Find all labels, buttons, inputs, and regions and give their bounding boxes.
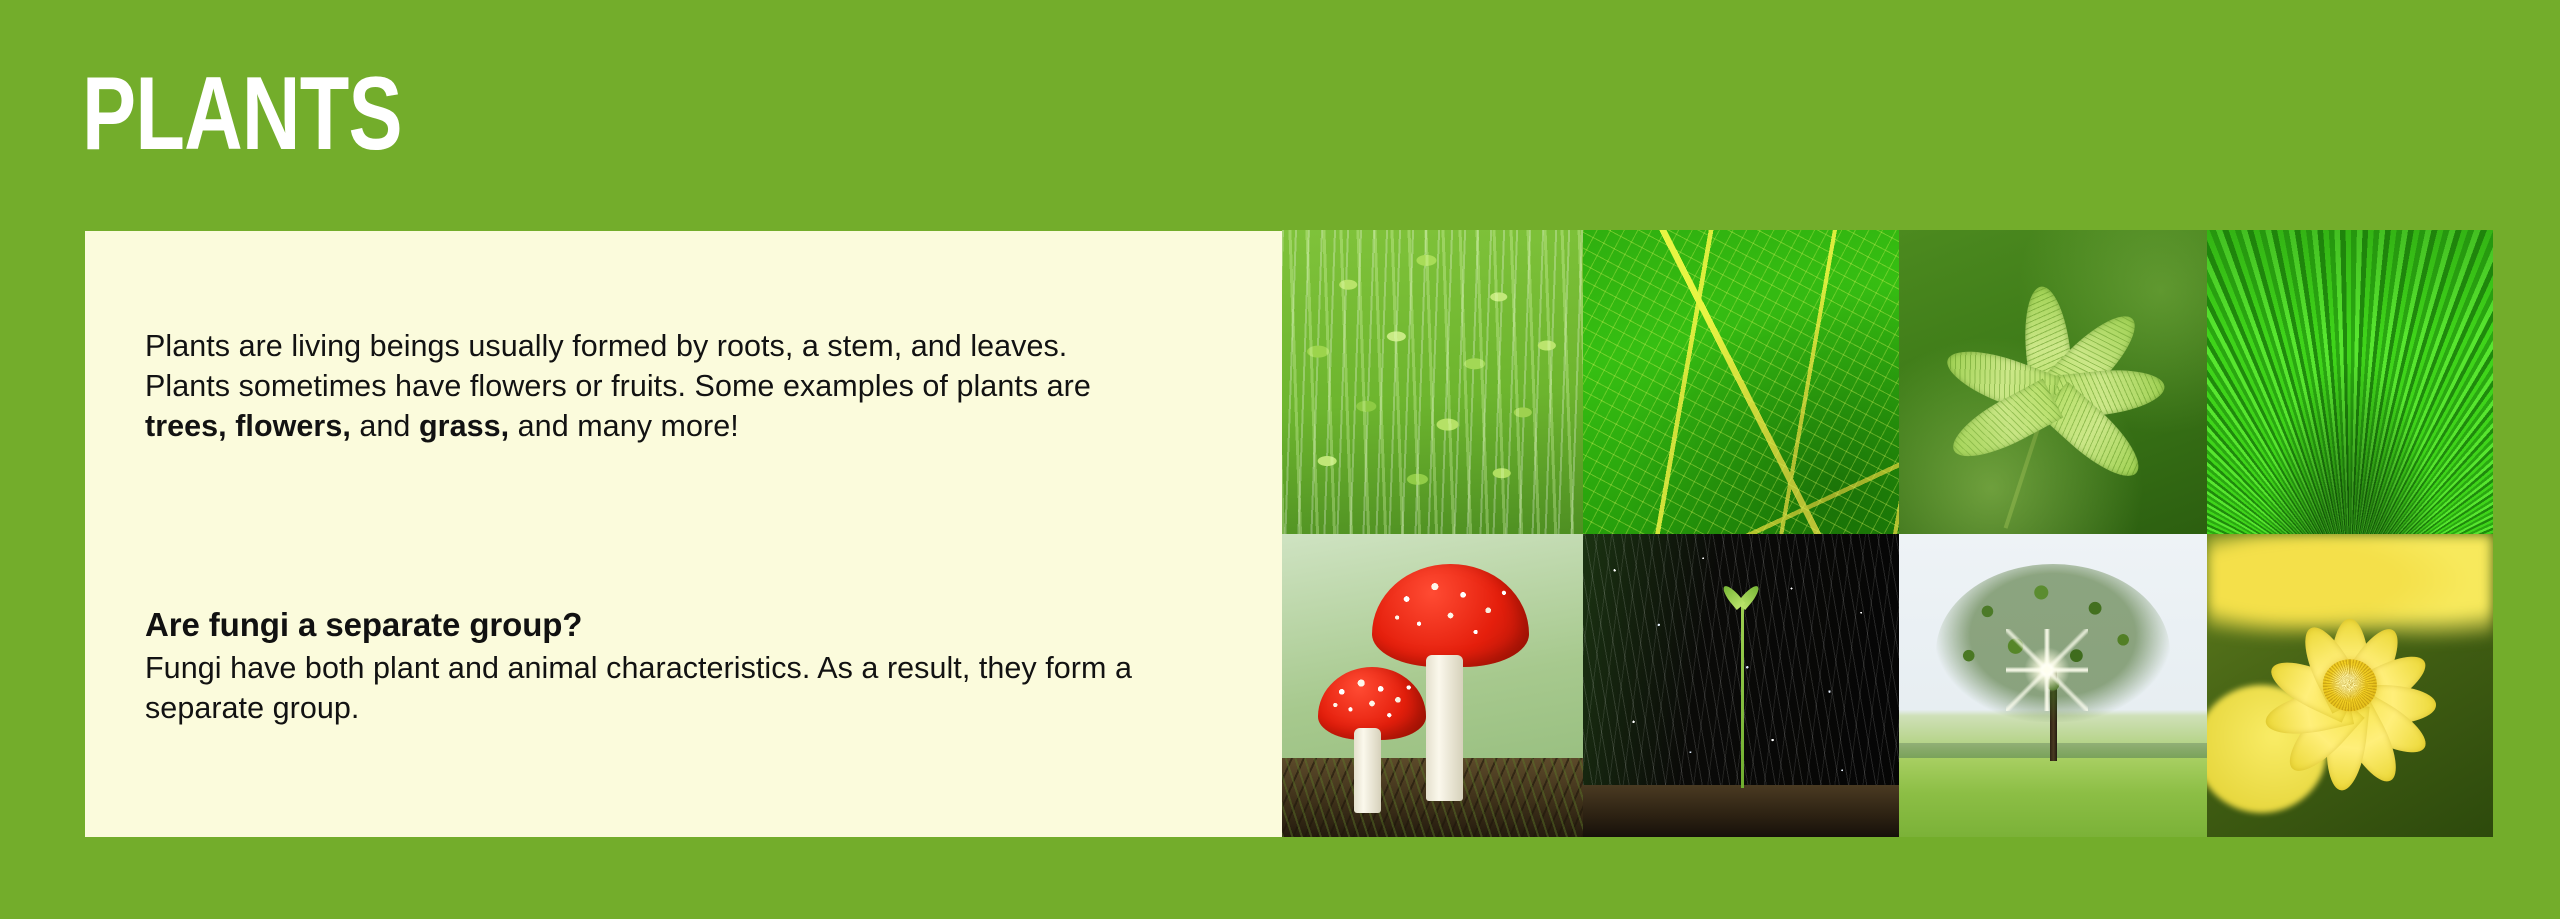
fungi-heading: Are fungi a separate group? (145, 603, 1255, 647)
dark-soil (1583, 785, 1899, 837)
intro-tail: and many more! (509, 409, 739, 443)
intro-line-2: Plants sometimes have flowers or fruits.… (145, 369, 1091, 403)
yellow-flowers-photo (2207, 534, 2493, 838)
text-panel: Plants are living beings usually formed … (85, 231, 1282, 837)
seedling-stem (1741, 600, 1744, 788)
leaflet (1944, 378, 2064, 469)
sun-flare (2024, 647, 2070, 693)
leaf-veins-photo (1583, 230, 1899, 534)
intro-line-1: Plants are living beings usually formed … (145, 329, 1067, 363)
intro-bold-grass: grass, (419, 409, 509, 443)
fungi-paragraph: Fungi have both plant and animal charact… (145, 648, 1255, 728)
leaflet (2037, 303, 2147, 413)
cress-sprouts-photo (1282, 230, 1583, 534)
intro-conjunction: and (351, 409, 419, 443)
leaf-stem (2004, 375, 2057, 528)
mushroom-stalk-small (1354, 728, 1381, 813)
photo-mosaic (1282, 230, 2493, 837)
leaflet (2038, 381, 2151, 489)
fungi-block: Are fungi a separate group? Fungi have b… (145, 603, 1255, 728)
leaflet (1940, 339, 2060, 419)
fly-agaric-photo (1282, 534, 1583, 838)
seedling-rain-photo (1583, 534, 1899, 838)
palmate-leaf-photo (1899, 230, 2207, 534)
intro-paragraph: Plants are living beings usually formed … (145, 326, 1255, 446)
leaflet (2019, 284, 2074, 400)
fan-palm-photo (2207, 230, 2493, 534)
mushroom-cap-large (1372, 564, 1529, 667)
page-title: PLANTS (82, 58, 402, 170)
lone-tree-photo (1899, 534, 2207, 838)
leaflet (2051, 364, 2167, 419)
grass-field (1899, 758, 2207, 837)
intro-bold-trees-flowers: trees, flowers, (145, 409, 351, 443)
flower-center (2323, 659, 2377, 711)
intro-block: Plants are living beings usually formed … (145, 326, 1255, 446)
content-card: Plants are living beings usually formed … (85, 231, 2493, 837)
mushroom-stalk-large (1426, 655, 1462, 801)
